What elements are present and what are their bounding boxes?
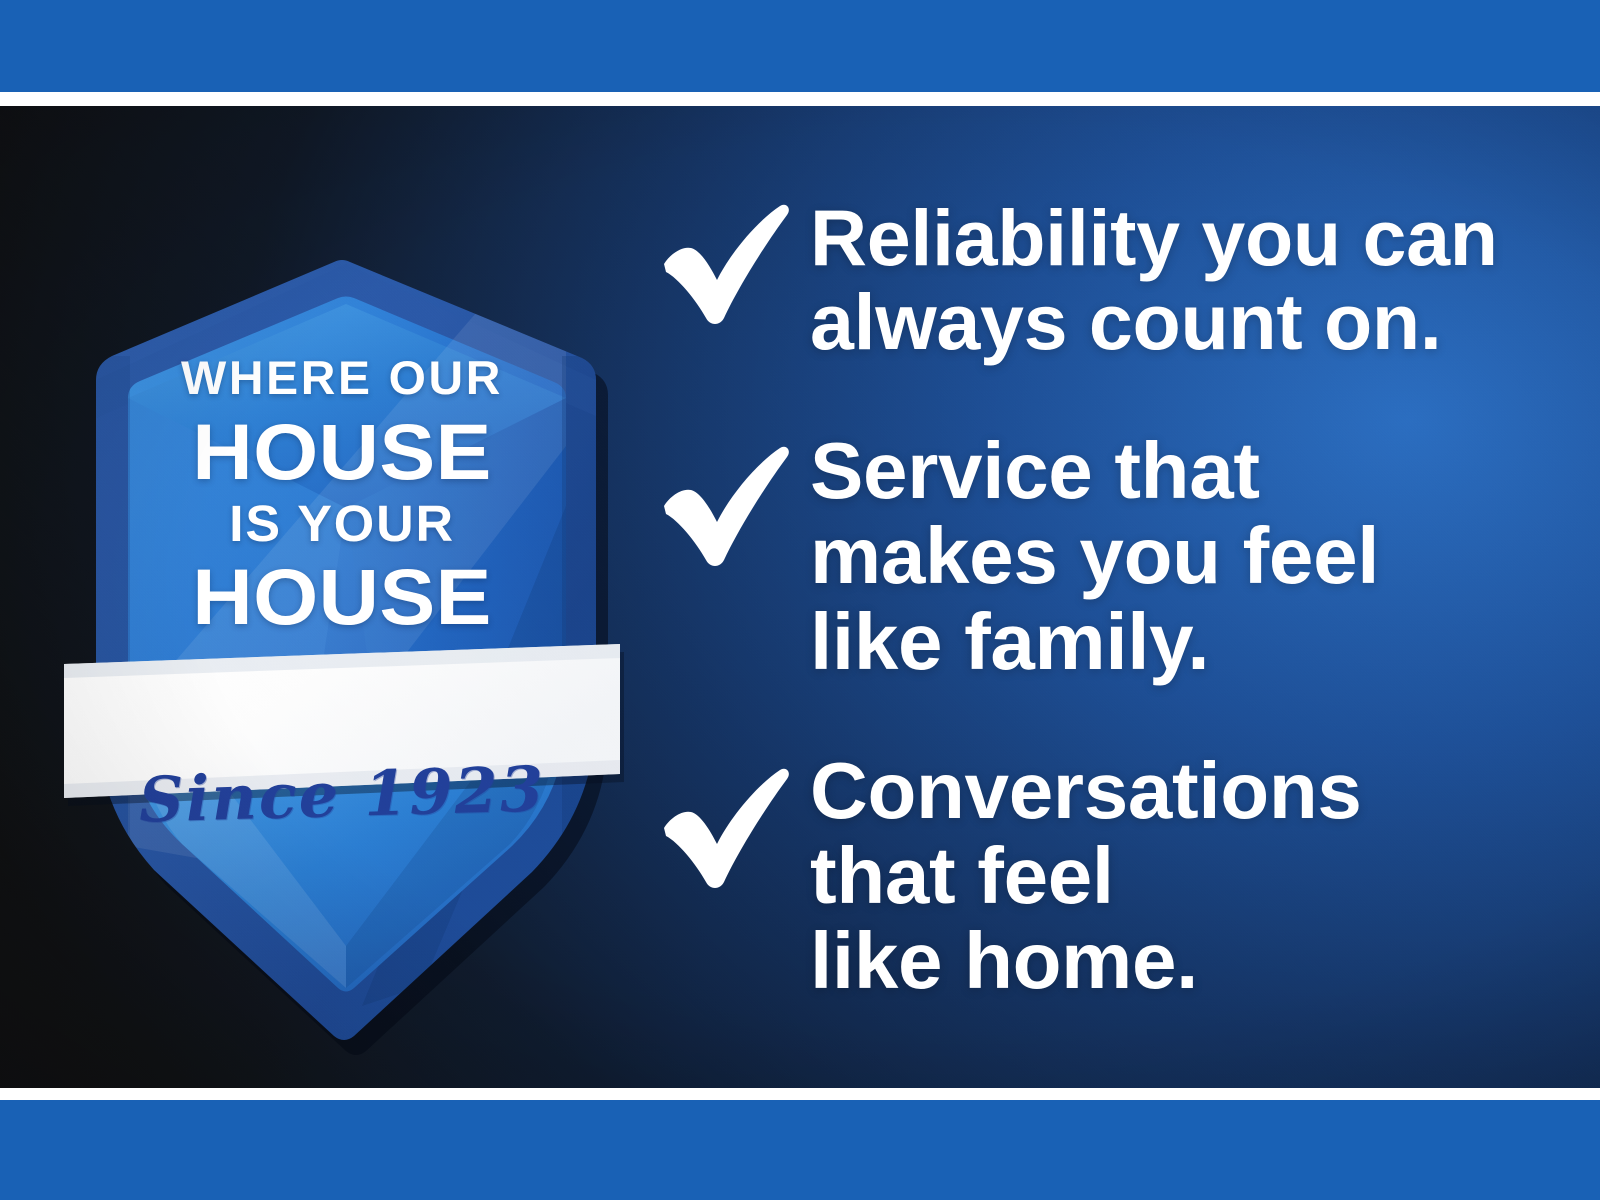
shield-ribbon [64, 644, 624, 806]
main-artboard: WHERE OUR HOUSE IS YOUR HOUSE Since 1923… [0, 106, 1600, 1088]
checkmark-icon [660, 748, 810, 888]
benefits-checklist: Reliability you can always count on. Ser… [660, 196, 1540, 1003]
bottom-white-divider [0, 1088, 1600, 1100]
promo-graphic: WHERE OUR HOUSE IS YOUR HOUSE Since 1923… [0, 0, 1600, 1200]
checklist-item-text: Reliability you can always count on. [810, 196, 1540, 364]
checklist-item-text: Conversations that feel like home. [810, 748, 1540, 1004]
company-shield-logo: WHERE OUR HOUSE IS YOUR HOUSE Since 1923 [62, 246, 622, 946]
checkmark-icon [660, 428, 810, 566]
checklist-item: Reliability you can always count on. [660, 196, 1540, 364]
checklist-item: Conversations that feel like home. [660, 748, 1540, 1004]
top-white-divider [0, 92, 1600, 106]
checklist-item-text: Service that makes you feel like family. [810, 428, 1540, 684]
checkmark-icon [660, 196, 810, 324]
bottom-brand-band [0, 1100, 1600, 1200]
checklist-item: Service that makes you feel like family. [660, 428, 1540, 684]
top-brand-band [0, 0, 1600, 92]
